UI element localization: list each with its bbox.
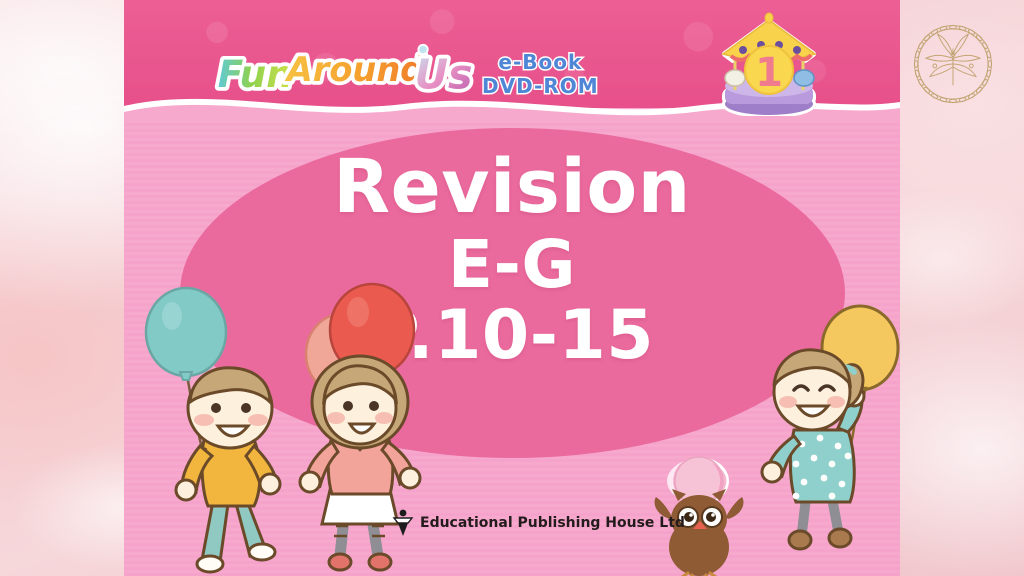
svg-text:Around: Around bbox=[284, 50, 425, 89]
svg-text:Fun: Fun bbox=[218, 52, 293, 96]
publisher-name: Educational Publishing House Ltd bbox=[420, 515, 685, 531]
eph-torch-icon bbox=[392, 509, 414, 537]
volume-number: 1 bbox=[755, 50, 783, 96]
slide-panel: Fun Fun Around Around Us Us e-Book DVD-R… bbox=[124, 0, 900, 576]
teal-balloon-icon bbox=[146, 288, 226, 376]
headline-line-1: Revision bbox=[124, 150, 900, 225]
svg-text:Us: Us bbox=[415, 51, 473, 98]
dvdrom-label: DVD-ROM bbox=[482, 74, 599, 98]
slide-stage: Fun Fun Around Around Us Us e-Book DVD-R… bbox=[0, 0, 1024, 576]
girl-polka-dot-character bbox=[744, 300, 900, 576]
ebook-label: e-Book bbox=[482, 50, 599, 74]
media-format-label: e-Book DVD-ROM bbox=[482, 50, 599, 98]
gold-lily-wreath-seal-icon bbox=[905, 16, 1001, 112]
fun-around-us-logo: Fun Fun Around Around Us Us bbox=[214, 42, 494, 98]
publisher-credit: Educational Publishing House Ltd bbox=[392, 508, 685, 538]
carousel-icon: 1 bbox=[709, 12, 829, 116]
